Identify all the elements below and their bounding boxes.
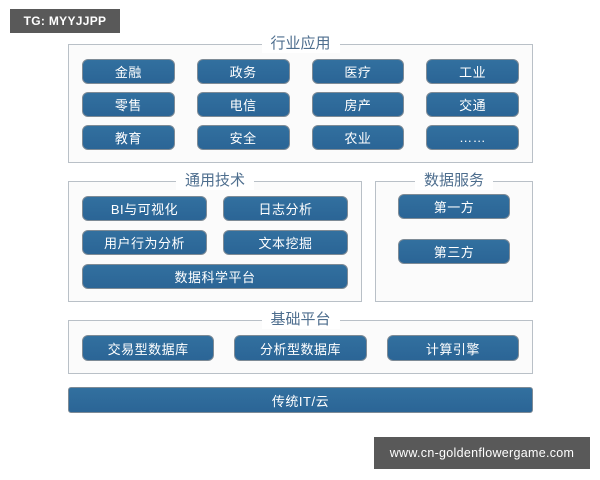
chip-industry-manufacturing[interactable]: 工业 xyxy=(426,59,519,84)
panel-body-industry-applications: 金融 政务 医疗 工业 零售 电信 房产 交通 教育 安全 农业 …… xyxy=(69,45,532,162)
industry-grid: 金融 政务 医疗 工业 零售 电信 房产 交通 教育 安全 农业 …… xyxy=(82,59,519,150)
chip-tech-log-analysis[interactable]: 日志分析 xyxy=(223,196,348,221)
chip-data-third-party[interactable]: 第三方 xyxy=(398,239,510,264)
panel-general-technology: 通用技术 BI与可视化 日志分析 用户行为分析 文本挖掘 数据科学平台 xyxy=(68,181,362,302)
chip-industry-transport[interactable]: 交通 xyxy=(426,92,519,117)
panel-title-general-technology: 通用技术 xyxy=(176,172,254,190)
chip-tech-text-mining[interactable]: 文本挖掘 xyxy=(223,230,348,255)
chip-base-compute-engine[interactable]: 计算引擎 xyxy=(387,335,519,361)
chip-tech-user-behavior-analysis[interactable]: 用户行为分析 xyxy=(82,230,207,255)
chip-base-transactional-database[interactable]: 交易型数据库 xyxy=(82,335,214,361)
watermark-top-left: TG: MYYJJPP xyxy=(10,9,120,33)
chip-industry-education[interactable]: 教育 xyxy=(82,125,175,150)
panel-title-base-platform: 基础平台 xyxy=(261,311,339,329)
chip-industry-realestate[interactable]: 房产 xyxy=(312,92,405,117)
architecture-diagram: 行业应用 金融 政务 医疗 工业 零售 电信 房产 交通 教育 安全 农业 ……… xyxy=(68,44,533,413)
chip-data-first-party[interactable]: 第一方 xyxy=(398,194,510,219)
chip-tech-data-science-platform[interactable]: 数据科学平台 xyxy=(82,264,348,289)
chip-industry-retail[interactable]: 零售 xyxy=(82,92,175,117)
panel-body-general-technology: BI与可视化 日志分析 用户行为分析 文本挖掘 数据科学平台 xyxy=(69,182,361,301)
chip-industry-more[interactable]: …… xyxy=(426,125,519,150)
technology-grid: BI与可视化 日志分析 用户行为分析 文本挖掘 xyxy=(82,196,348,255)
chip-industry-finance[interactable]: 金融 xyxy=(82,59,175,84)
chip-foundation-traditional-it-cloud[interactable]: 传统IT/云 xyxy=(68,387,533,413)
chip-industry-government[interactable]: 政务 xyxy=(197,59,290,84)
chip-industry-healthcare[interactable]: 医疗 xyxy=(312,59,405,84)
chip-industry-telecom[interactable]: 电信 xyxy=(197,92,290,117)
panel-data-service: 数据服务 第一方 第三方 xyxy=(375,181,533,302)
panel-title-data-service: 数据服务 xyxy=(415,172,493,190)
data-service-stack: 第一方 第三方 xyxy=(376,182,532,276)
panel-title-industry-applications: 行业应用 xyxy=(261,35,339,53)
chip-industry-security[interactable]: 安全 xyxy=(197,125,290,150)
panel-industry-applications: 行业应用 金融 政务 医疗 工业 零售 电信 房产 交通 教育 安全 农业 …… xyxy=(68,44,533,163)
chip-tech-bi-visualization[interactable]: BI与可视化 xyxy=(82,196,207,221)
middle-row: 通用技术 BI与可视化 日志分析 用户行为分析 文本挖掘 数据科学平台 数据服务… xyxy=(68,181,533,302)
panel-base-platform: 基础平台 交易型数据库 分析型数据库 计算引擎 xyxy=(68,320,533,374)
chip-base-analytical-database[interactable]: 分析型数据库 xyxy=(234,335,366,361)
watermark-bottom-right: www.cn-goldenflowergame.com xyxy=(374,437,590,469)
base-platform-grid: 交易型数据库 分析型数据库 计算引擎 xyxy=(82,335,519,361)
chip-industry-agriculture[interactable]: 农业 xyxy=(312,125,405,150)
